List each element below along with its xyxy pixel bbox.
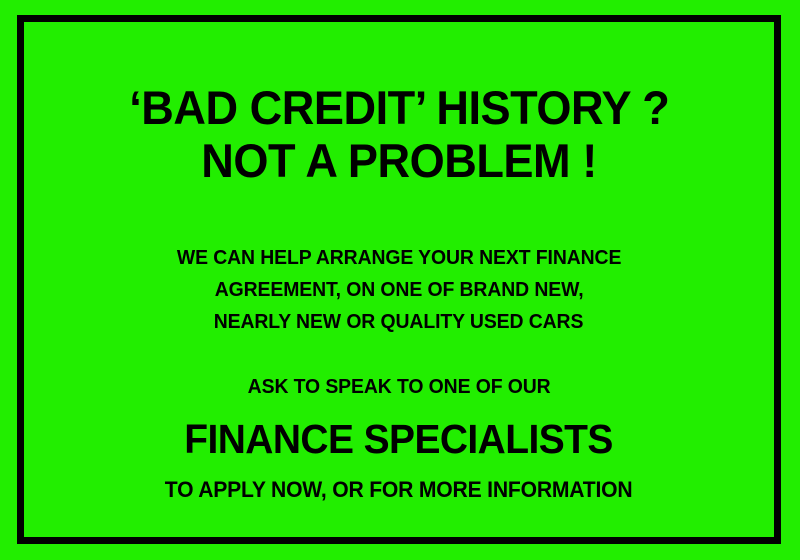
advertisement-poster: ‘BAD CREDIT’ HISTORY ? NOT A PROBLEM ! W… — [0, 0, 800, 560]
body-text-line-3: NEARLY NEW OR QUALITY USED CARS — [214, 312, 584, 332]
headline-line-2: NOT A PROBLEM ! — [201, 137, 597, 186]
finance-specialists-heading: FINANCE SPECIALISTS — [185, 419, 613, 460]
body-text-line-1: WE CAN HELP ARRANGE YOUR NEXT FINANCE — [177, 248, 621, 268]
apply-now-line: TO APPLY NOW, OR FOR MORE INFORMATION — [165, 479, 633, 501]
poster-content: ‘BAD CREDIT’ HISTORY ? NOT A PROBLEM ! W… — [24, 22, 774, 537]
headline-line-1: ‘BAD CREDIT’ HISTORY ? — [129, 84, 669, 133]
ask-to-speak-line: ASK TO SPEAK TO ONE OF OUR — [248, 377, 551, 397]
body-text-line-2: AGREEMENT, ON ONE OF BRAND NEW, — [215, 280, 584, 300]
